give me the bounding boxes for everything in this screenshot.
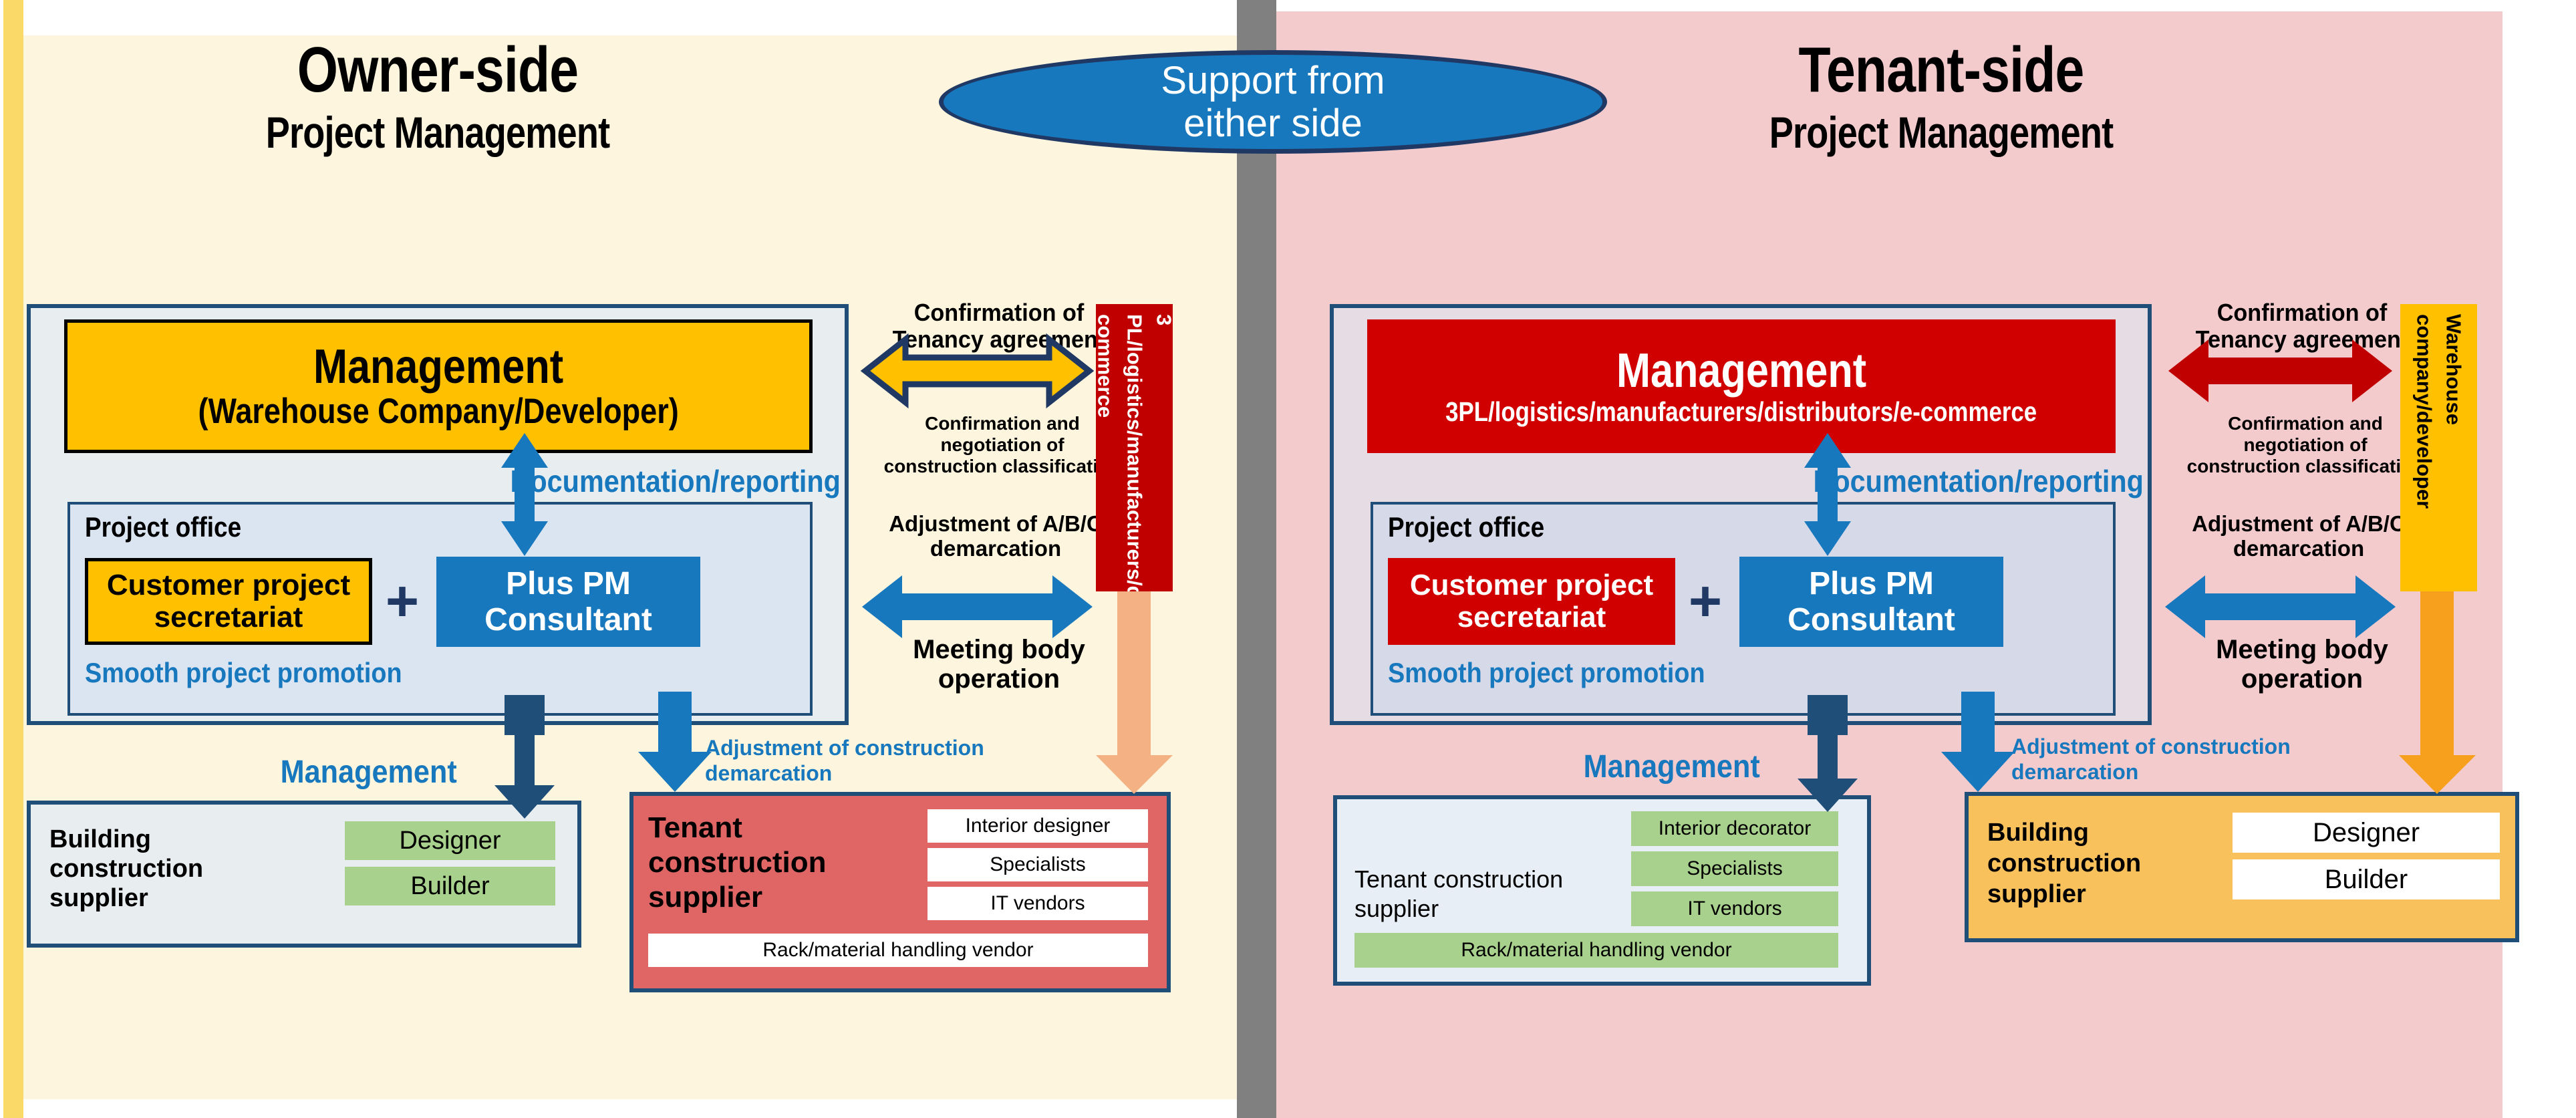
- support-badge: Support from either side: [939, 50, 1607, 154]
- center-divider: [1237, 0, 1276, 1118]
- owner-project-office: Project office Customer project secretar…: [67, 502, 813, 716]
- tenant-title: Tenant-side: [1626, 37, 2257, 104]
- tenant-tenant-supplier-box: Tenant construction supplier Interior de…: [1333, 795, 1871, 986]
- owner-building-supplier-title: Building construction supplier: [49, 825, 223, 913]
- tenant-management-subtitle: 3PL/logistics/manufacturers/distributors…: [1445, 396, 2037, 427]
- owner-adjustment-abc-label: Adjustment of A/B/C demarcation: [862, 511, 1129, 561]
- owner-confirmation-negotiation-label: Confirmation and negotiation of construc…: [882, 413, 1123, 477]
- tenant-confirmation-tenancy-label: Confirmation of Tenancy agreement: [2169, 299, 2436, 353]
- owner-management-box: Management (Warehouse Company/Developer): [64, 319, 813, 453]
- owner-management-title: Management: [313, 341, 563, 392]
- owner-tenant-supplier-title: Tenant construction supplier: [648, 811, 842, 915]
- tenant-tenant-supplier-item-specialists: Specialists: [1631, 851, 1838, 886]
- tenant-building-supplier-item-builder: Builder: [2233, 859, 2500, 899]
- owner-smooth-label: Smooth project promotion: [85, 657, 402, 689]
- owner-tenant-supplier-item-interior-designer: Interior designer: [927, 809, 1148, 843]
- owner-adjustment-demarcation-label: Adjustment of construction demarcation: [705, 735, 1012, 786]
- owner-building-supplier-item-builder: Builder: [345, 867, 555, 905]
- tenant-management-arrow-label: Management: [1584, 748, 1760, 785]
- tenant-adjustment-abc-label: Adjustment of A/B/C demarcation: [2165, 511, 2432, 561]
- owner-management-subtitle: (Warehouse Company/Developer): [198, 392, 678, 431]
- tenant-tenant-supplier-item-it-vendors: IT vendors: [1631, 891, 1838, 926]
- tenant-project-office-label: Project office: [1388, 511, 1544, 543]
- owner-plus-icon: +: [382, 575, 422, 628]
- owner-meeting-body-label: Meeting body operation: [869, 635, 1129, 694]
- owner-tenant-supplier-item-specialists: Specialists: [927, 848, 1148, 881]
- tenant-group-frame: Management 3PL/logistics/manufacturers/d…: [1330, 304, 2152, 725]
- tenant-meeting-body-label: Meeting body operation: [2172, 635, 2432, 694]
- tenant-pm-consultant-box: Plus PM Consultant: [1739, 557, 2003, 647]
- owner-management-arrow-label: Management: [281, 754, 457, 791]
- support-badge-line1: Support from: [1161, 59, 1385, 102]
- owner-secretariat-box: Customer project secretariat: [85, 558, 372, 645]
- tenant-tenant-supplier-item-interior-decorator: Interior decorator: [1631, 811, 1838, 846]
- owner-building-supplier-box: Building construction supplier Designer …: [27, 801, 581, 948]
- tenant-smooth-label: Smooth project promotion: [1388, 657, 1705, 689]
- tenant-plus-icon: +: [1685, 575, 1725, 628]
- owner-building-supplier-item-designer: Designer: [345, 821, 555, 860]
- tenant-management-box: Management 3PL/logistics/manufacturers/d…: [1367, 319, 2116, 453]
- owner-project-office-label: Project office: [85, 511, 241, 543]
- owner-group-frame: Management (Warehouse Company/Developer)…: [27, 304, 849, 725]
- owner-subtitle: Project Management: [123, 107, 753, 158]
- tenant-building-supplier-box: Building construction supplier Designer …: [1965, 792, 2519, 942]
- tenant-secretariat-box: Customer project secretariat: [1388, 558, 1675, 645]
- tenant-building-supplier-item-designer: Designer: [2233, 813, 2500, 853]
- owner-documentation-label: Documentation/reporting: [510, 463, 841, 499]
- owner-title: Owner-side: [123, 37, 753, 104]
- owner-tenant-supplier-item-it-vendors: IT vendors: [927, 887, 1148, 920]
- tenant-documentation-label: Documentation/reporting: [1813, 463, 2144, 499]
- owner-side-box: 3 PL/logistics/manufacturers/distributor…: [1096, 304, 1173, 591]
- owner-pm-consultant-box: Plus PM Consultant: [436, 557, 700, 647]
- diagram-canvas: Owner-side Project Management Tenant-sid…: [0, 0, 2576, 1118]
- tenant-management-title: Management: [1616, 345, 1866, 396]
- tenant-building-supplier-title: Building construction supplier: [1987, 817, 2161, 910]
- tenant-project-office: Project office Customer project secretar…: [1371, 502, 2116, 716]
- tenant-side-box: Warehouse company/developer: [2400, 304, 2477, 591]
- owner-side-box-label: 3 PL/logistics/manufacturers/distributor…: [1091, 314, 1179, 581]
- owner-tenant-supplier-item-rack: Rack/material handling vendor: [648, 934, 1148, 967]
- support-badge-line2: either side: [1161, 102, 1385, 145]
- tenant-subtitle: Project Management: [1626, 107, 2257, 158]
- tenant-tenant-supplier-item-rack: Rack/material handling vendor: [1354, 933, 1838, 968]
- owner-tenant-supplier-box: Tenant construction supplier Interior de…: [629, 792, 1171, 992]
- tenant-side-box-label: Warehouse company/developer: [2410, 314, 2468, 581]
- left-accent-bar: [3, 0, 23, 1118]
- tenant-tenant-supplier-title: Tenant construction supplier: [1354, 865, 1575, 924]
- tenant-confirmation-negotiation-label: Confirmation and negotiation of construc…: [2185, 413, 2426, 477]
- tenant-adjustment-demarcation-label: Adjustment of construction demarcation: [2011, 734, 2319, 785]
